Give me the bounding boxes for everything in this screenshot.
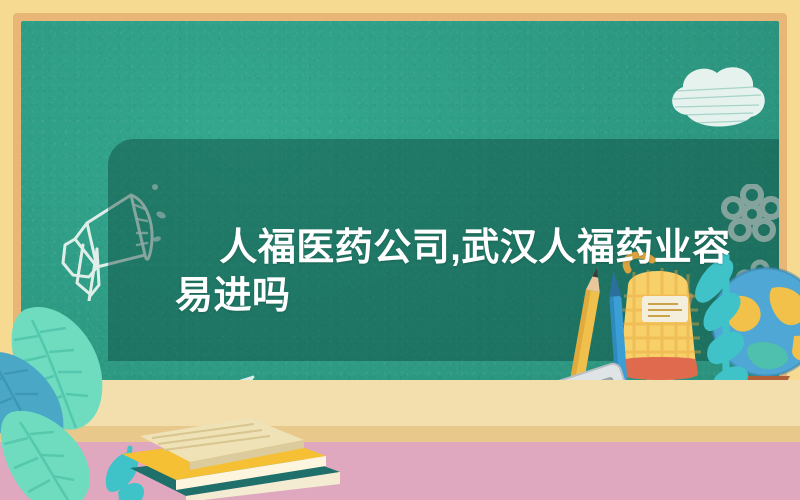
cloud-scribble-icon: [659, 61, 771, 147]
headline-text: 人福医药公司,武汉人福药业容易进吗: [175, 227, 731, 317]
book-stack-illustration: [118, 398, 348, 500]
page-title: 人福医药公司,武汉人福药业容易进吗: [175, 176, 735, 368]
banner-image: 69: [0, 0, 800, 500]
